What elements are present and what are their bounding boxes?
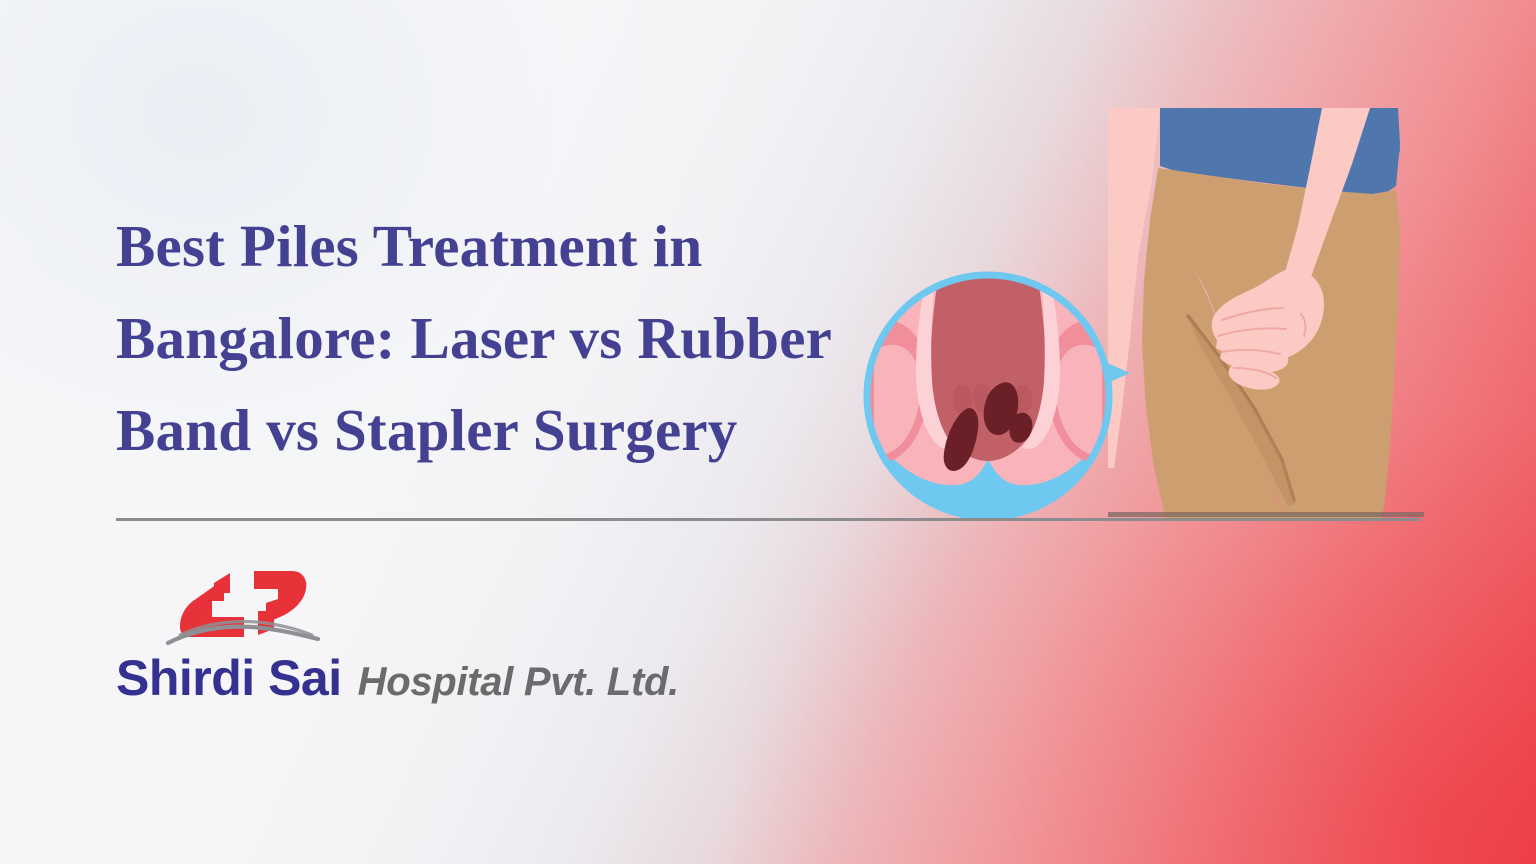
ground-shadow-line xyxy=(1108,512,1424,517)
logo-company-name: Shirdi Sai xyxy=(116,649,342,707)
page-title: Best Piles Treatment in Bangalore: Laser… xyxy=(116,200,906,476)
headline-line-2: Bangalore: Laser vs Rubber xyxy=(116,292,906,384)
horizontal-divider xyxy=(116,518,1421,521)
logo-mark-icon xyxy=(166,565,326,647)
promotional-banner: Best Piles Treatment in Bangalore: Laser… xyxy=(0,0,1536,864)
logo-company-suffix: Hospital Pvt. Ltd. xyxy=(358,660,679,705)
company-logo: Shirdi Sai Hospital Pvt. Ltd. xyxy=(116,565,756,715)
person-illustration xyxy=(1108,108,1424,520)
logo-wordmark: Shirdi Sai Hospital Pvt. Ltd. xyxy=(116,649,679,707)
headline-line-1: Best Piles Treatment in xyxy=(116,200,906,292)
headline-line-3: Band vs Stapler Surgery xyxy=(116,384,906,476)
